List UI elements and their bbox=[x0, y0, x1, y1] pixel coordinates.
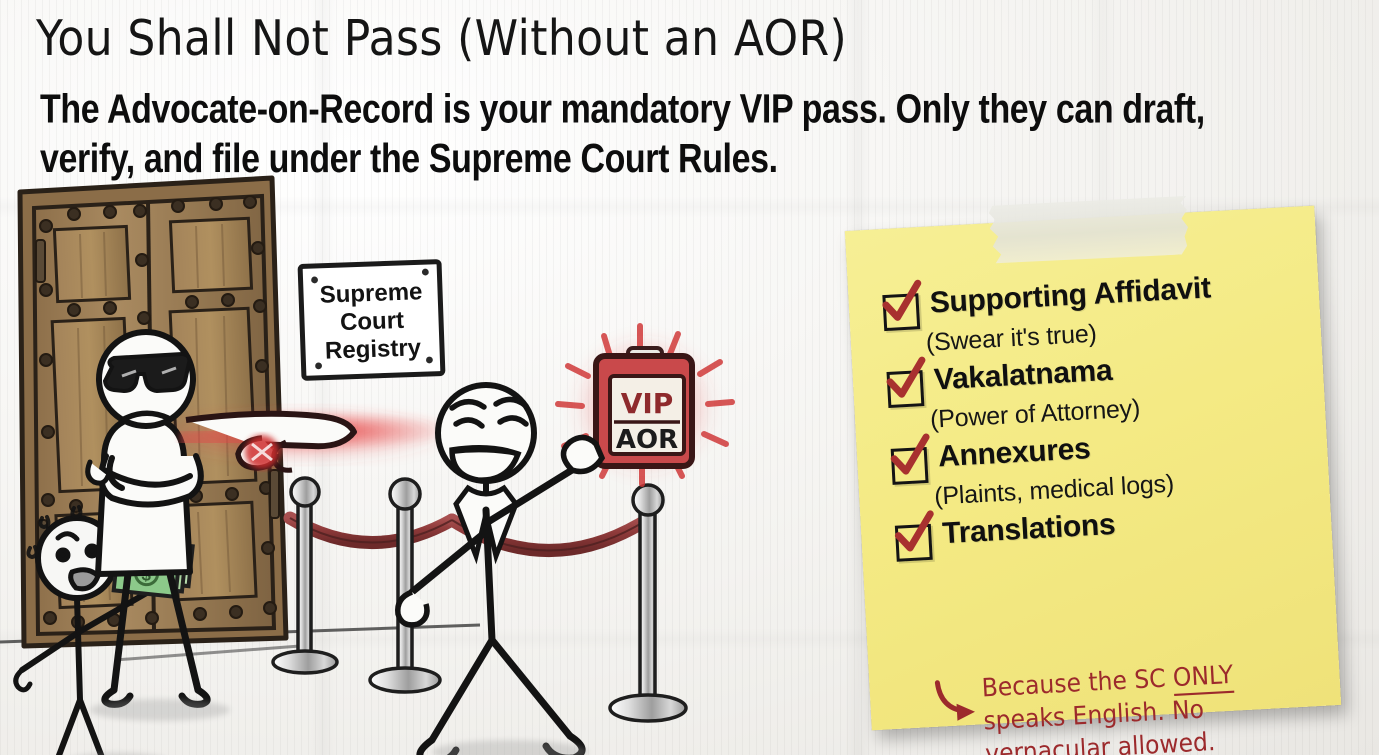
badge-line-aor: AOR bbox=[616, 425, 678, 455]
checkmark-icon bbox=[877, 279, 925, 327]
checklist-label: Translations bbox=[941, 508, 1116, 551]
scene-illustration: Supreme Court Registry bbox=[0, 170, 880, 755]
checkbox-checked[interactable] bbox=[891, 447, 929, 485]
stanchion-mid bbox=[370, 479, 440, 692]
stanchion-right bbox=[610, 485, 686, 721]
checklist-label: Vakalatnama bbox=[933, 354, 1113, 398]
checkmark-icon bbox=[881, 356, 929, 404]
checkmark-icon bbox=[885, 433, 933, 481]
annotation-underlined: ONLY bbox=[1172, 661, 1234, 696]
badge-line-vip: VIP bbox=[621, 387, 674, 420]
sign-line-2: Court bbox=[340, 307, 405, 336]
checklist-label: Supporting Affidavit bbox=[929, 271, 1212, 320]
checklist-label: Annexures bbox=[937, 432, 1091, 474]
sign-line-3: Registry bbox=[325, 334, 423, 364]
checkbox-checked[interactable] bbox=[882, 293, 920, 331]
infographic-canvas: You Shall Not Pass (Without an AOR) The … bbox=[0, 0, 1379, 755]
checklist-sticky-note: Supporting Affidavit (Swear it's true) V… bbox=[845, 206, 1341, 731]
checkbox-checked[interactable] bbox=[887, 370, 925, 408]
page-title: You Shall Not Pass (Without an AOR) bbox=[36, 8, 847, 71]
note-annotation: Because the SC ONLY speaks English. No v… bbox=[981, 653, 1353, 755]
page-subtitle: The Advocate-on-Record is your mandatory… bbox=[40, 84, 1267, 184]
vip-aor-badge: VIP AOR bbox=[558, 326, 732, 484]
sunglasses bbox=[105, 354, 189, 391]
sign-line-1: Supreme bbox=[319, 278, 423, 309]
registry-sign: Supreme Court Registry bbox=[300, 262, 443, 379]
annotation-line1-pre: Because the SC bbox=[981, 664, 1174, 703]
checkmark-icon bbox=[889, 510, 937, 558]
checkbox-checked[interactable] bbox=[895, 524, 933, 562]
tape-strip bbox=[988, 194, 1189, 266]
